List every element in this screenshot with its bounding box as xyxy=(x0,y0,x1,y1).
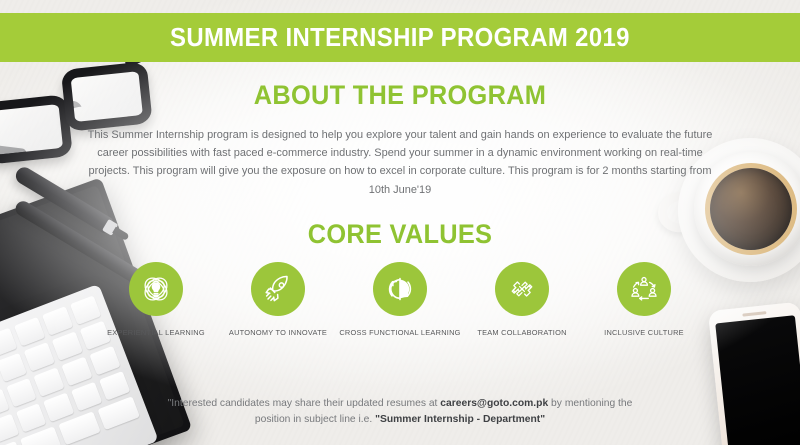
people-network-icon xyxy=(627,272,661,306)
core-value-label: AUTONOMY TO INNOVATE xyxy=(229,328,327,337)
title-banner: SUMMER INTERNSHIP PROGRAM 2019 xyxy=(0,13,800,62)
core-value-label: TEAM COLLABORATION xyxy=(477,328,566,337)
team-collaboration-badge xyxy=(495,262,549,316)
careers-email: careers@goto.com.pk xyxy=(440,398,548,409)
about-heading: ABOUT THE PROGRAM xyxy=(24,80,776,111)
inclusive-culture-badge xyxy=(617,262,671,316)
core-value-item: CROSS FUNCTIONAL LEARNING xyxy=(339,262,461,337)
about-paragraph: This Summer Internship program is design… xyxy=(84,126,715,199)
core-values-heading: CORE VALUES xyxy=(24,219,776,250)
footer-line1-prefix: "Interested candidates may share their u… xyxy=(168,398,441,409)
joined-hands-icon xyxy=(505,272,539,306)
core-values-list: EXPERIENTIAL LEARNING xyxy=(0,262,800,337)
internship-poster: SUMMER INTERNSHIP PROGRAM 2019 ABOUT THE… xyxy=(0,0,800,445)
lightbulb-orbit-icon xyxy=(139,272,173,306)
core-value-item: AUTONOMY TO INNOVATE xyxy=(217,262,339,337)
core-value-label: EXPERIENTIAL LEARNING xyxy=(107,328,205,337)
subject-line-example: "Summer Internship - Department" xyxy=(375,414,545,425)
core-value-item: EXPERIENTIAL LEARNING xyxy=(95,262,217,337)
footer-line1-suffix: by xyxy=(548,398,562,409)
core-value-label: CROSS FUNCTIONAL LEARNING xyxy=(339,328,460,337)
core-value-label: INCLUSIVE CULTURE xyxy=(604,328,684,337)
footer-note: "Interested candidates may share their u… xyxy=(150,396,650,429)
rocket-icon xyxy=(261,272,295,306)
circular-arrows-icon xyxy=(383,272,417,306)
poster-content: SUMMER INTERNSHIP PROGRAM 2019 ABOUT THE… xyxy=(0,0,800,445)
autonomy-to-innovate-badge xyxy=(251,262,305,316)
poster-title: SUMMER INTERNSHIP PROGRAM 2019 xyxy=(170,22,630,53)
cross-functional-learning-badge xyxy=(373,262,427,316)
experiential-learning-badge xyxy=(129,262,183,316)
core-value-item: INCLUSIVE CULTURE xyxy=(583,262,705,337)
core-value-item: TEAM COLLABORATION xyxy=(461,262,583,337)
